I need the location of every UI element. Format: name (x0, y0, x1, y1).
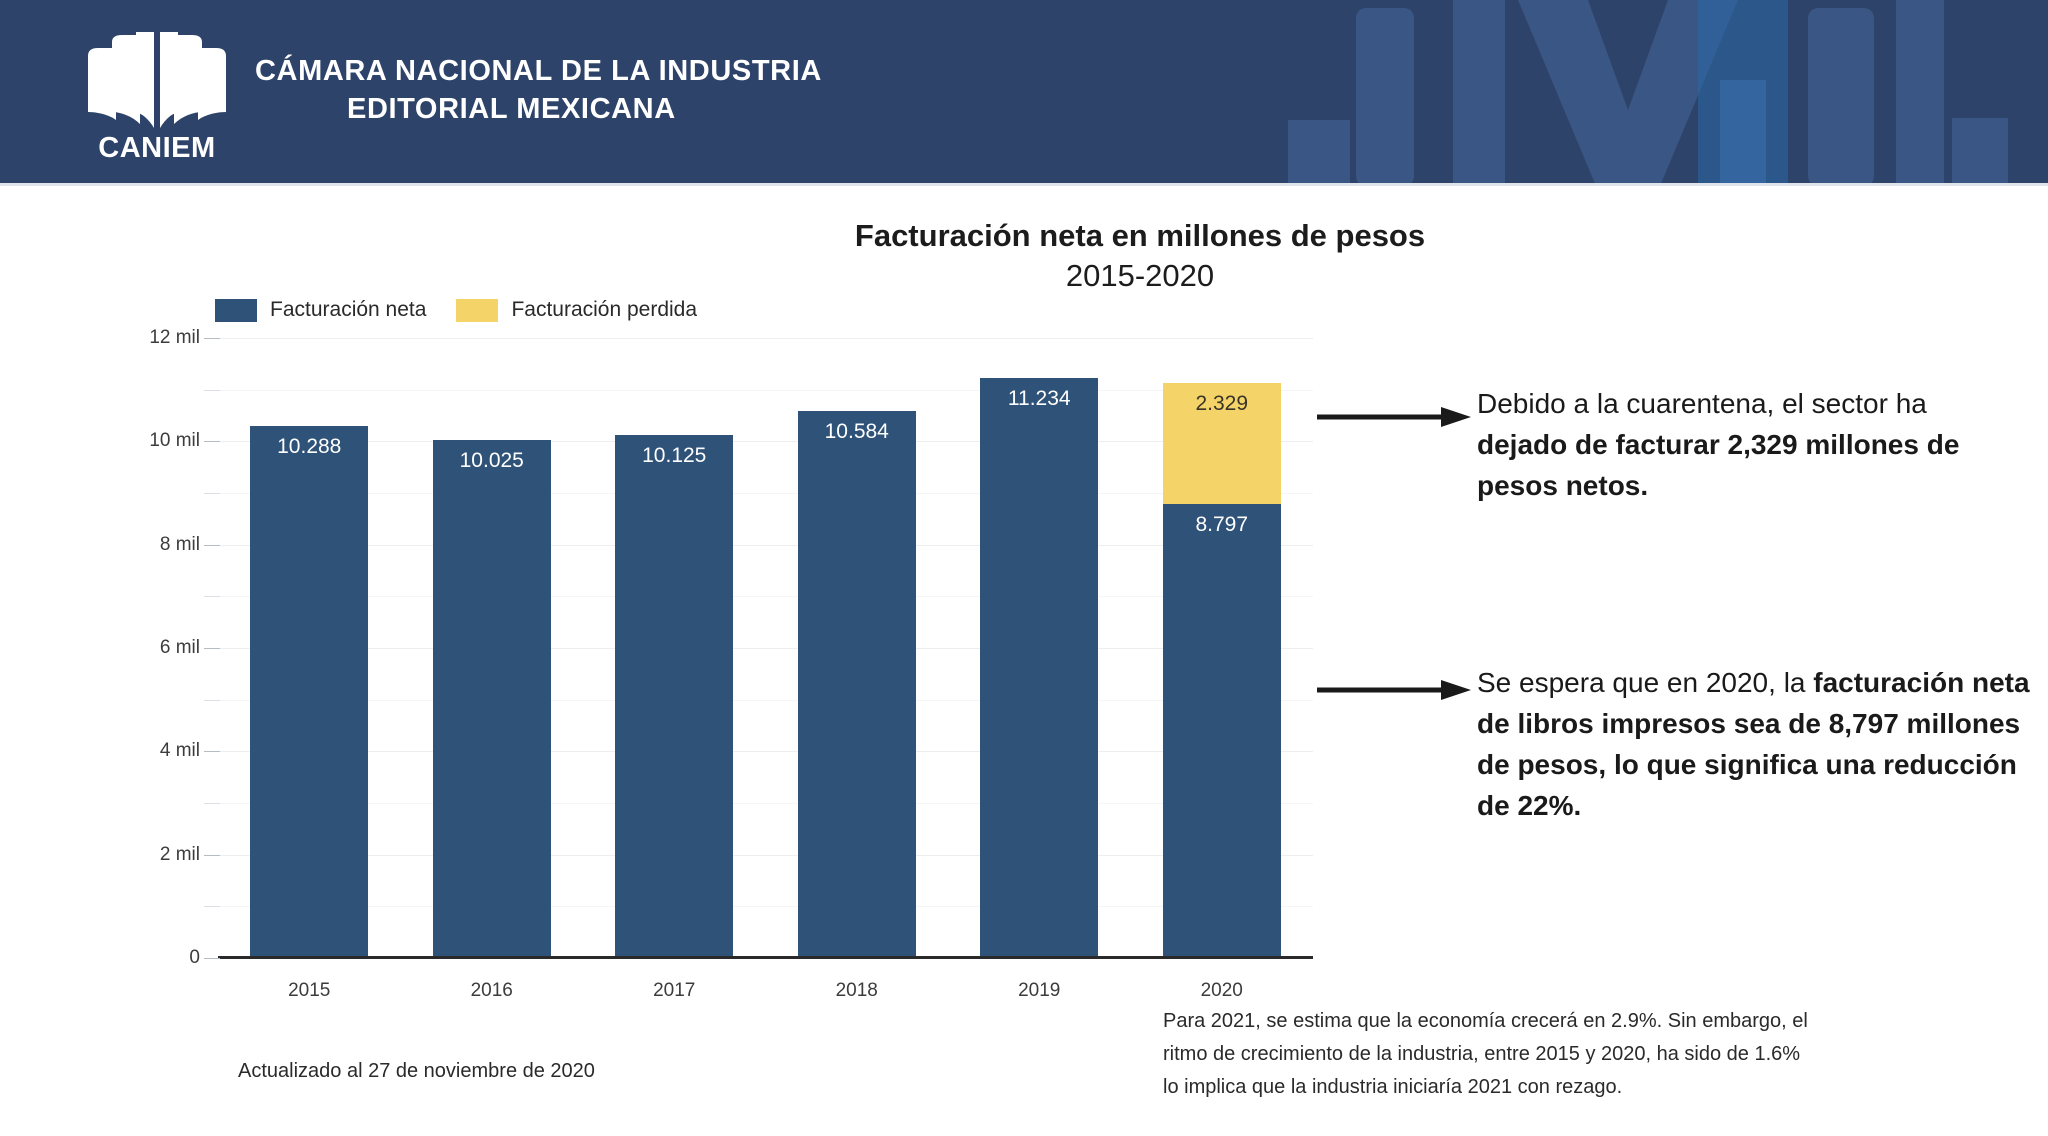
legend-item-facturacion-perdida[interactable]: Facturación perdida (456, 298, 697, 322)
x-axis-tick-label: 2017 (604, 980, 744, 1002)
annot1-plain-1: Debido a la cuarentena, el sector (1477, 388, 1896, 419)
chart-subtitle: 2015-2020 (560, 258, 1720, 294)
bar-segment-facturacion-neta[interactable]: 10.025 (433, 440, 551, 958)
bar-group[interactable]: 11.234 (980, 378, 1098, 958)
bar-segment-facturacion-perdida[interactable]: 2.329 (1163, 383, 1281, 503)
page-header: CANIEM CÁMARA NACIONAL DE LA INDUSTRIA E… (0, 0, 2048, 186)
footnote-line-2: ritmo de crecimiento de la industria, en… (1163, 1038, 2048, 1071)
y-axis-tick-mark (204, 390, 220, 391)
y-axis-tick-mark (204, 906, 220, 907)
updated-date: Actualizado al 27 de noviembre de 2020 (238, 1060, 595, 1083)
chart-title: Facturación neta en millones de pesos (560, 214, 1720, 258)
legend-label-facturacion-neta: Facturación neta (270, 298, 426, 322)
bar-value-label: 10.584 (798, 420, 916, 444)
bar-value-label: 2.329 (1163, 392, 1281, 416)
logo-wordmark: CANIEM (82, 132, 232, 165)
organization-title: CÁMARA NACIONAL DE LA INDUSTRIA EDITORIA… (255, 52, 822, 128)
header-building-decoration (1268, 0, 2048, 186)
chart-legend: Facturación neta Facturación perdida (215, 298, 697, 322)
y-axis-tick-mark (204, 855, 220, 856)
legend-swatch-yellow (456, 299, 498, 322)
y-axis-tick-mark (204, 338, 220, 339)
bar-segment-facturacion-neta[interactable]: 10.584 (798, 411, 916, 958)
org-title-line-1: CÁMARA NACIONAL DE LA INDUSTRIA (255, 55, 822, 87)
annotation-net-billing-2020: Se espera que en 2020, la facturación ne… (1477, 662, 2037, 826)
annot1-bold-1: dejado de facturar 2,329 millones de pes… (1477, 429, 1959, 501)
gridline-minor (218, 906, 1313, 907)
legend-item-facturacion-neta[interactable]: Facturación neta (215, 298, 426, 322)
y-axis-tick-mark (204, 493, 220, 494)
gridline-major (218, 648, 1313, 649)
bar-group[interactable]: 10.025 (433, 440, 551, 958)
header-divider (0, 183, 2048, 186)
y-axis-tick-mark (204, 700, 220, 701)
footnote-line-3: lo implica que la industria iniciaría 20… (1163, 1071, 2048, 1104)
footnote-block: Para 2021, se estima que la economía cre… (1163, 1005, 2048, 1104)
legend-label-facturacion-perdida: Facturación perdida (511, 298, 697, 322)
x-axis-line (218, 956, 1313, 959)
y-axis-tick-label: 6 mil (90, 637, 200, 659)
bar-group[interactable]: 10.288 (250, 426, 368, 958)
gridline-major (218, 751, 1313, 752)
callout-arrow-bottom (1315, 677, 1475, 703)
bar-segment-facturacion-neta[interactable]: 8.797 (1163, 504, 1281, 959)
gridline-minor (218, 493, 1313, 494)
y-axis-tick-label: 4 mil (90, 740, 200, 762)
bar-value-label: 11.234 (980, 387, 1098, 411)
gridline-minor (218, 803, 1313, 804)
chart-plot-area: 10.28810.02510.12510.58411.2348.7972.329 (218, 338, 1313, 958)
open-book-icon (82, 28, 232, 132)
org-title-line-2: EDITORIAL MEXICANA (255, 90, 822, 128)
annotation-lost-billing: Debido a la cuarentena, el sector ha dej… (1477, 383, 2007, 506)
y-axis-tick-mark (204, 751, 220, 752)
bar-value-label: 10.288 (250, 435, 368, 459)
caniem-logo: CANIEM (82, 28, 232, 168)
gridline-major (218, 441, 1313, 442)
gridline-minor (218, 596, 1313, 597)
legend-swatch-blue (215, 299, 257, 322)
bar-value-label: 10.125 (615, 444, 733, 468)
callout-arrow-top (1315, 404, 1475, 430)
x-axis-tick-label: 2019 (969, 980, 1109, 1002)
y-axis-tick-label: 12 mil (90, 327, 200, 349)
y-axis-tick-label: 8 mil (90, 534, 200, 556)
annot1-plain-2: ha (1896, 388, 1927, 419)
y-axis-tick-label: 0 (90, 947, 200, 969)
x-axis-tick-label: 2020 (1152, 980, 1292, 1002)
bar-group[interactable]: 10.584 (798, 411, 916, 958)
x-axis-tick-label: 2018 (787, 980, 927, 1002)
gridline-minor (218, 700, 1313, 701)
y-axis-tick-label: 2 mil (90, 844, 200, 866)
y-axis-tick-mark (204, 545, 220, 546)
y-axis-tick-mark (204, 803, 220, 804)
x-axis-tick-label: 2015 (239, 980, 379, 1002)
footnote-line-1: Para 2021, se estima que la economía cre… (1163, 1005, 2048, 1038)
gridline-major (218, 338, 1313, 339)
y-axis-tick-mark (204, 958, 220, 959)
y-axis-tick-mark (204, 596, 220, 597)
y-axis-tick-mark (204, 648, 220, 649)
bar-segment-facturacion-neta[interactable]: 11.234 (980, 378, 1098, 958)
annot2-plain-1: Se espera que en 2020, la (1477, 667, 1813, 698)
x-axis-tick-label: 2016 (422, 980, 562, 1002)
bar-group[interactable]: 10.125 (615, 435, 733, 958)
y-axis-tick-mark (204, 441, 220, 442)
bar-value-label: 8.797 (1163, 513, 1281, 537)
bar-segment-facturacion-neta[interactable]: 10.125 (615, 435, 733, 958)
gridline-major (218, 545, 1313, 546)
bar-value-label: 10.025 (433, 449, 551, 473)
bar-group[interactable]: 8.7972.329 (1163, 383, 1281, 958)
gridline-major (218, 855, 1313, 856)
bar-segment-facturacion-neta[interactable]: 10.288 (250, 426, 368, 958)
y-axis-tick-label: 10 mil (90, 430, 200, 452)
gridline-minor (218, 390, 1313, 391)
